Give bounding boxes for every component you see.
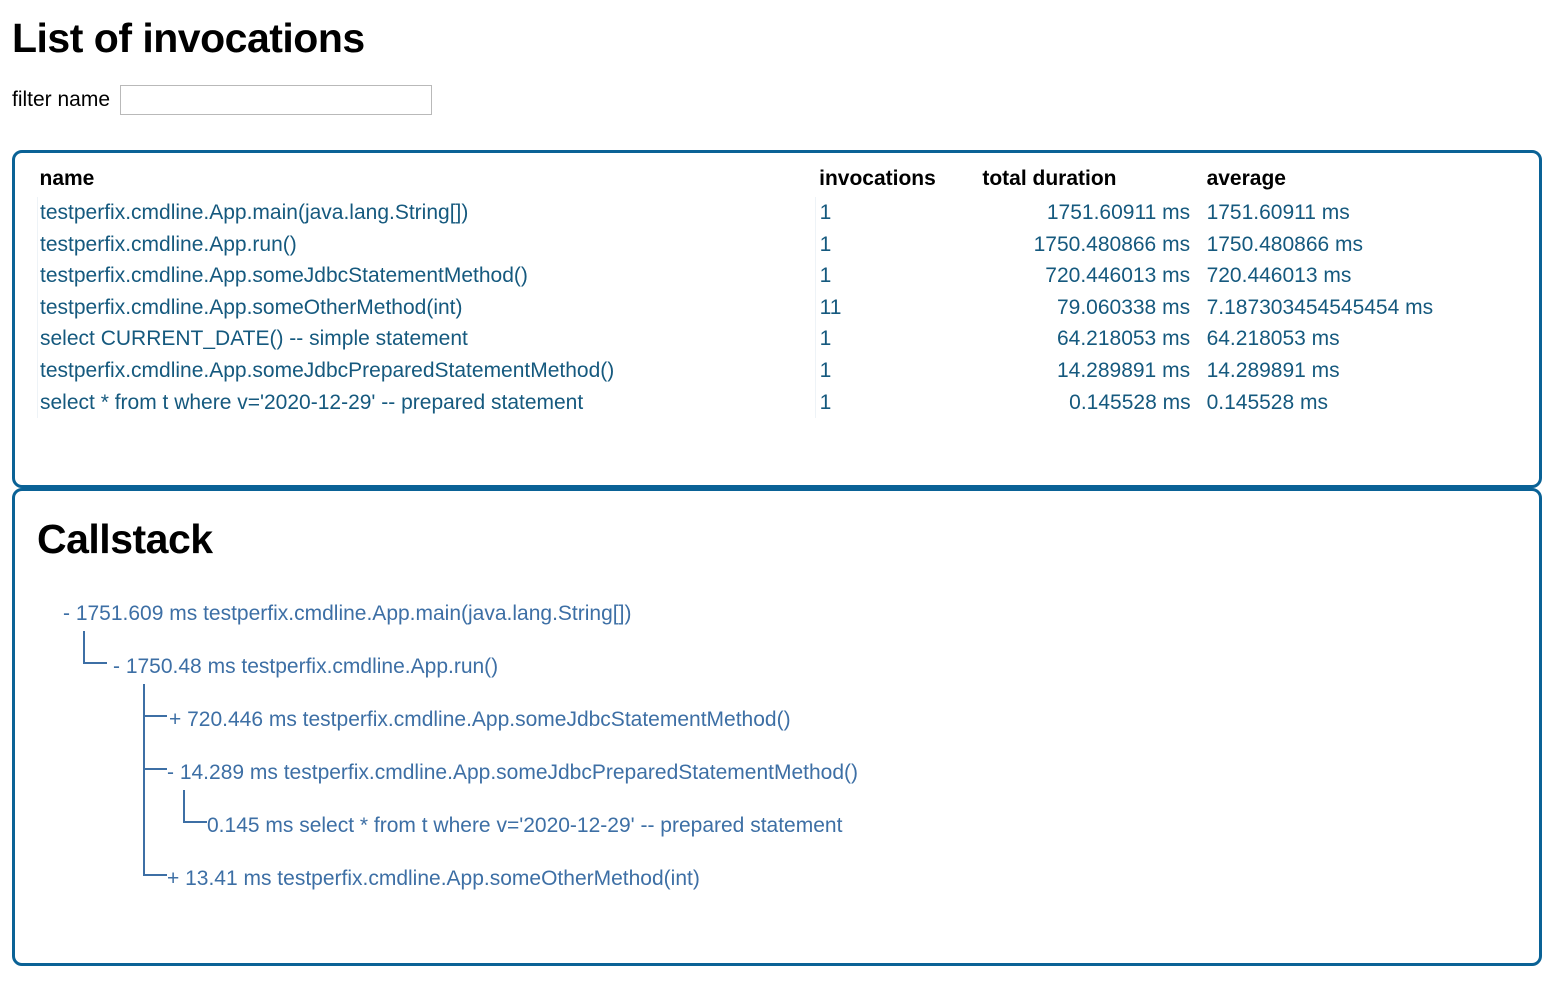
table-header-row: name invocations total duration average <box>38 167 1539 197</box>
filter-name-input[interactable] <box>120 85 432 115</box>
callstack-node[interactable]: - 1750.48 ms testperfix.cmdline.App.run(… <box>15 645 1539 698</box>
tree-elbow-connector <box>83 631 107 664</box>
table-row[interactable]: testperfix.cmdline.App.someJdbcStatement… <box>38 260 1539 292</box>
callstack-node-label[interactable]: + 13.41 ms testperfix.cmdline.App.someOt… <box>167 867 700 891</box>
cell-total-duration: 720.446013 ms <box>978 260 1202 292</box>
cell-total-duration: 1750.480866 ms <box>978 229 1202 261</box>
cell-average: 1751.60911 ms <box>1203 197 1539 229</box>
tree-elbow-connector <box>183 790 207 823</box>
cell-average: 64.218053 ms <box>1203 323 1539 355</box>
cell-total-duration: 79.060338 ms <box>978 292 1202 324</box>
cell-name[interactable]: testperfix.cmdline.App.someJdbcStatement… <box>38 260 816 292</box>
column-header-name[interactable]: name <box>38 167 816 197</box>
table-row[interactable]: testperfix.cmdline.App.someOtherMethod(i… <box>38 292 1539 324</box>
callstack-node-label[interactable]: - 1750.48 ms testperfix.cmdline.App.run(… <box>113 655 498 679</box>
cell-invocations: 1 <box>815 355 978 387</box>
cell-invocations: 1 <box>815 387 978 419</box>
cell-invocations: 1 <box>815 260 978 292</box>
column-header-average[interactable]: average <box>1203 167 1539 197</box>
cell-name[interactable]: testperfix.cmdline.App.someJdbcPreparedS… <box>38 355 816 387</box>
callstack-node[interactable]: 0.145 ms select * from t where v='2020-1… <box>15 804 1539 857</box>
filter-row: filter name <box>0 61 1564 117</box>
cell-average: 1750.480866 ms <box>1203 229 1539 261</box>
table-row[interactable]: testperfix.cmdline.App.main(java.lang.St… <box>38 197 1539 229</box>
cell-name[interactable]: testperfix.cmdline.App.main(java.lang.St… <box>38 197 816 229</box>
cell-total-duration: 14.289891 ms <box>978 355 1202 387</box>
table-row[interactable]: testperfix.cmdline.App.run() 1 1750.4808… <box>38 229 1539 261</box>
cell-average: 7.187303454545454 ms <box>1203 292 1539 324</box>
callstack-tree: - 1751.609 ms testperfix.cmdline.App.mai… <box>15 592 1539 910</box>
callstack-node[interactable]: + 720.446 ms testperfix.cmdline.App.some… <box>15 698 1539 751</box>
page-title: List of invocations <box>0 0 1564 61</box>
cell-name[interactable]: testperfix.cmdline.App.run() <box>38 229 816 261</box>
cell-total-duration: 1751.60911 ms <box>978 197 1202 229</box>
cell-name[interactable]: select CURRENT_DATE() -- simple statemen… <box>38 323 816 355</box>
tree-elbow-connector <box>143 821 167 876</box>
table-row[interactable]: select CURRENT_DATE() -- simple statemen… <box>38 323 1539 355</box>
cell-invocations: 11 <box>815 292 978 324</box>
cell-invocations: 1 <box>815 323 978 355</box>
cell-total-duration: 0.145528 ms <box>978 387 1202 419</box>
column-header-invocations[interactable]: invocations <box>815 167 978 197</box>
callstack-title: Callstack <box>15 491 1539 562</box>
cell-total-duration: 64.218053 ms <box>978 323 1202 355</box>
table-row[interactable]: select * from t where v='2020-12-29' -- … <box>38 387 1539 419</box>
cell-average: 720.446013 ms <box>1203 260 1539 292</box>
tree-vertical-connector <box>143 684 145 715</box>
cell-average: 0.145528 ms <box>1203 387 1539 419</box>
invocations-panel: name invocations total duration average … <box>12 150 1542 488</box>
callstack-node-label[interactable]: + 720.446 ms testperfix.cmdline.App.some… <box>169 708 791 732</box>
tree-tee-connector <box>143 768 167 770</box>
callstack-node[interactable]: - 1751.609 ms testperfix.cmdline.App.mai… <box>15 592 1539 645</box>
tree-tee-connector <box>143 715 167 717</box>
callstack-node-label[interactable]: - 1751.609 ms testperfix.cmdline.App.mai… <box>63 602 631 626</box>
cell-invocations: 1 <box>815 197 978 229</box>
invocations-table: name invocations total duration average … <box>37 167 1539 418</box>
tree-vertical-connector <box>143 715 145 768</box>
callstack-node-label[interactable]: - 14.289 ms testperfix.cmdline.App.someJ… <box>167 761 858 785</box>
cell-name[interactable]: testperfix.cmdline.App.someOtherMethod(i… <box>38 292 816 324</box>
column-header-total-duration[interactable]: total duration <box>978 167 1202 197</box>
callstack-node[interactable]: + 13.41 ms testperfix.cmdline.App.someOt… <box>15 857 1539 910</box>
cell-average: 14.289891 ms <box>1203 355 1539 387</box>
callstack-node-label[interactable]: 0.145 ms select * from t where v='2020-1… <box>207 814 842 838</box>
cell-name[interactable]: select * from t where v='2020-12-29' -- … <box>38 387 816 419</box>
callstack-node[interactable]: - 14.289 ms testperfix.cmdline.App.someJ… <box>15 751 1539 804</box>
cell-invocations: 1 <box>815 229 978 261</box>
callstack-panel: Callstack - 1751.609 ms testperfix.cmdli… <box>12 488 1542 966</box>
table-row[interactable]: testperfix.cmdline.App.someJdbcPreparedS… <box>38 355 1539 387</box>
filter-name-label: filter name <box>12 88 110 112</box>
